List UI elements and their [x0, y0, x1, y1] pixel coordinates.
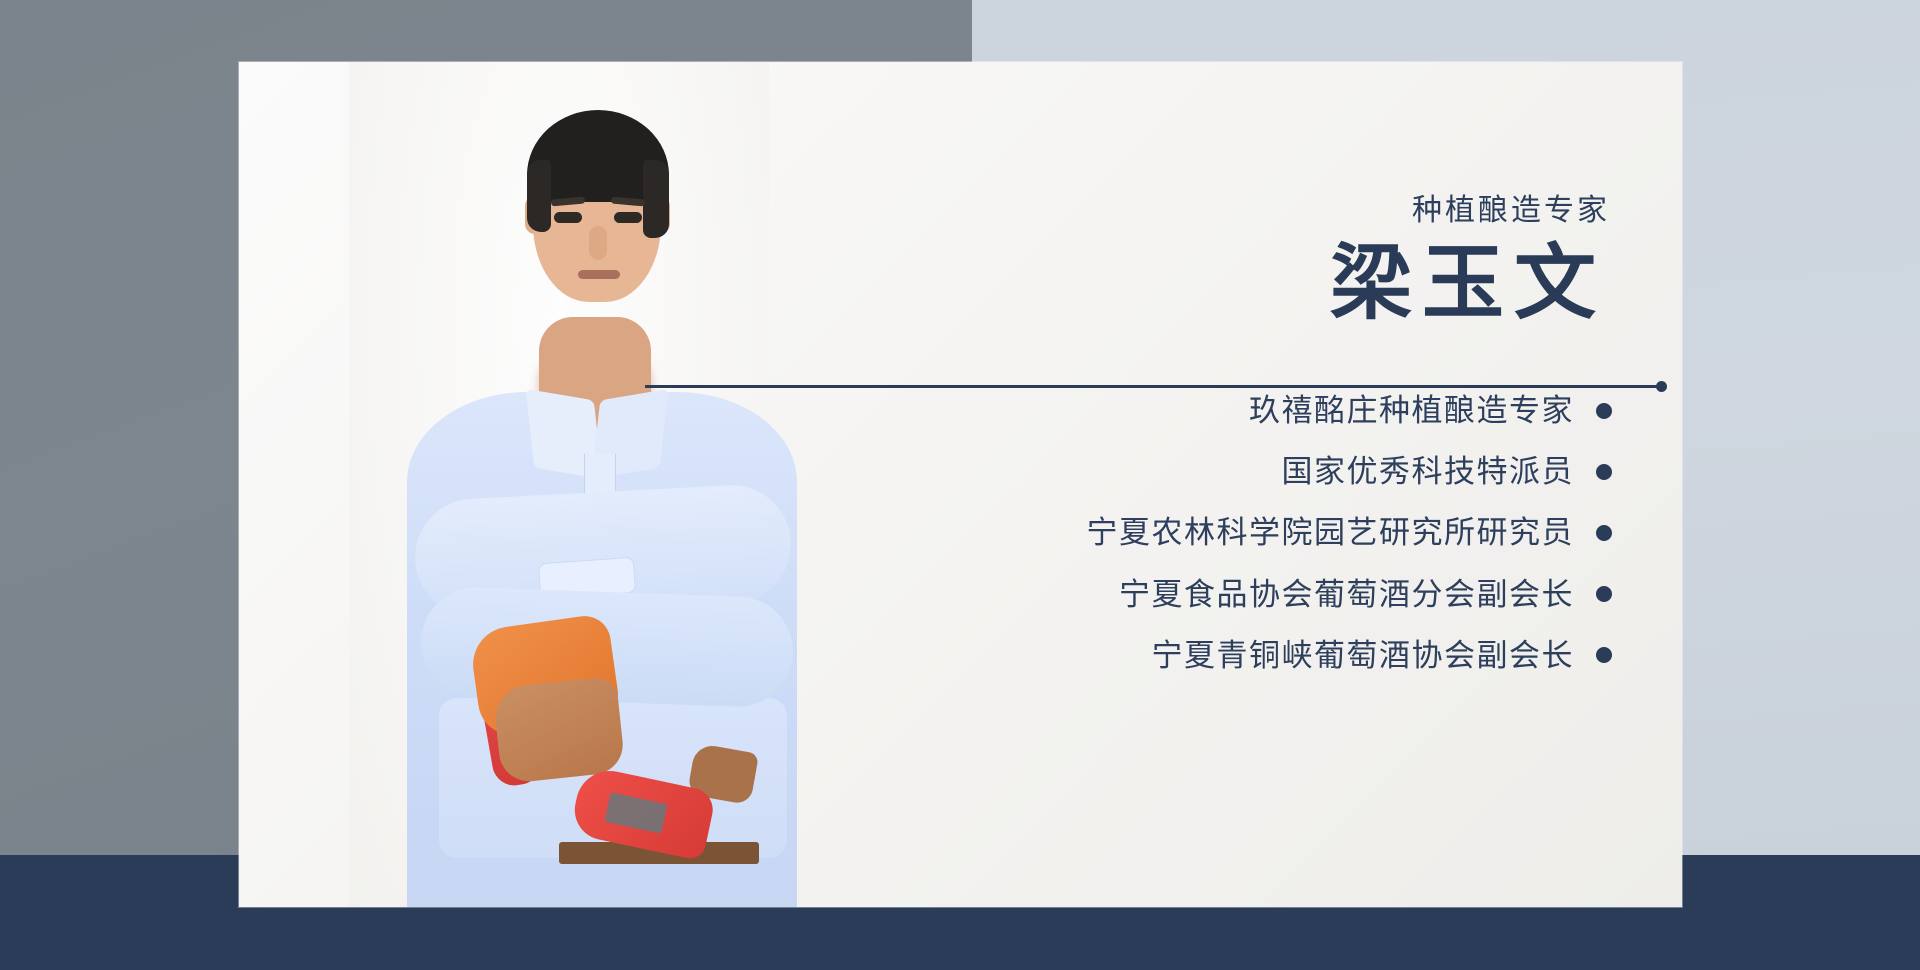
list-item: 宁夏青铜峡葡萄酒协会副会长 — [1087, 637, 1613, 674]
divider-line — [645, 385, 1659, 388]
credentials-list: 玖禧酩庄种植酿造专家 国家优秀科技特派员 宁夏农林科学院园艺研究所研究员 宁夏食… — [1087, 392, 1613, 674]
eye-left — [554, 212, 582, 223]
page-title: 梁玉文 — [1330, 241, 1610, 327]
portrait-photo — [239, 62, 859, 907]
work-glove-palm — [492, 676, 625, 784]
credential-text: 国家优秀科技特派员 — [1282, 453, 1575, 490]
eye-right — [614, 212, 642, 223]
hair-side-left — [527, 160, 551, 232]
credential-text: 宁夏农林科学院园艺研究所研究员 — [1087, 514, 1575, 551]
bullet-dot-icon — [1596, 525, 1612, 541]
credential-text: 宁夏食品协会葡萄酒分会副会长 — [1119, 576, 1574, 613]
bullet-dot-icon — [1596, 647, 1612, 663]
bullet-dot-icon — [1596, 464, 1612, 480]
list-item: 国家优秀科技特派员 — [1087, 453, 1613, 490]
divider-end-dot — [1656, 381, 1667, 392]
poster-canvas: 种植酿造专家 梁玉文 玖禧酩庄种植酿造专家 国家优秀科技特派员 宁夏农林科学院园… — [0, 0, 1920, 970]
list-item: 宁夏食品协会葡萄酒分会副会长 — [1087, 576, 1613, 613]
headline-block: 种植酿造专家 梁玉文 — [1330, 194, 1610, 327]
hair-side-right — [643, 160, 669, 238]
nose — [589, 226, 607, 260]
list-item: 宁夏农林科学院园艺研究所研究员 — [1087, 514, 1613, 551]
list-item: 玖禧酩庄种植酿造专家 — [1087, 392, 1613, 429]
horizontal-divider — [645, 381, 1667, 391]
bullet-dot-icon — [1596, 403, 1612, 419]
portrait-bottom-fade — [239, 867, 859, 907]
expert-subtitle: 种植酿造专家 — [1330, 194, 1610, 227]
credential-text: 玖禧酩庄种植酿造专家 — [1249, 392, 1574, 429]
profile-card: 种植酿造专家 梁玉文 玖禧酩庄种植酿造专家 国家优秀科技特派员 宁夏农林科学院园… — [239, 62, 1682, 907]
mouth — [578, 270, 620, 279]
bullet-dot-icon — [1596, 586, 1612, 602]
credential-text: 宁夏青铜峡葡萄酒协会副会长 — [1152, 637, 1575, 674]
